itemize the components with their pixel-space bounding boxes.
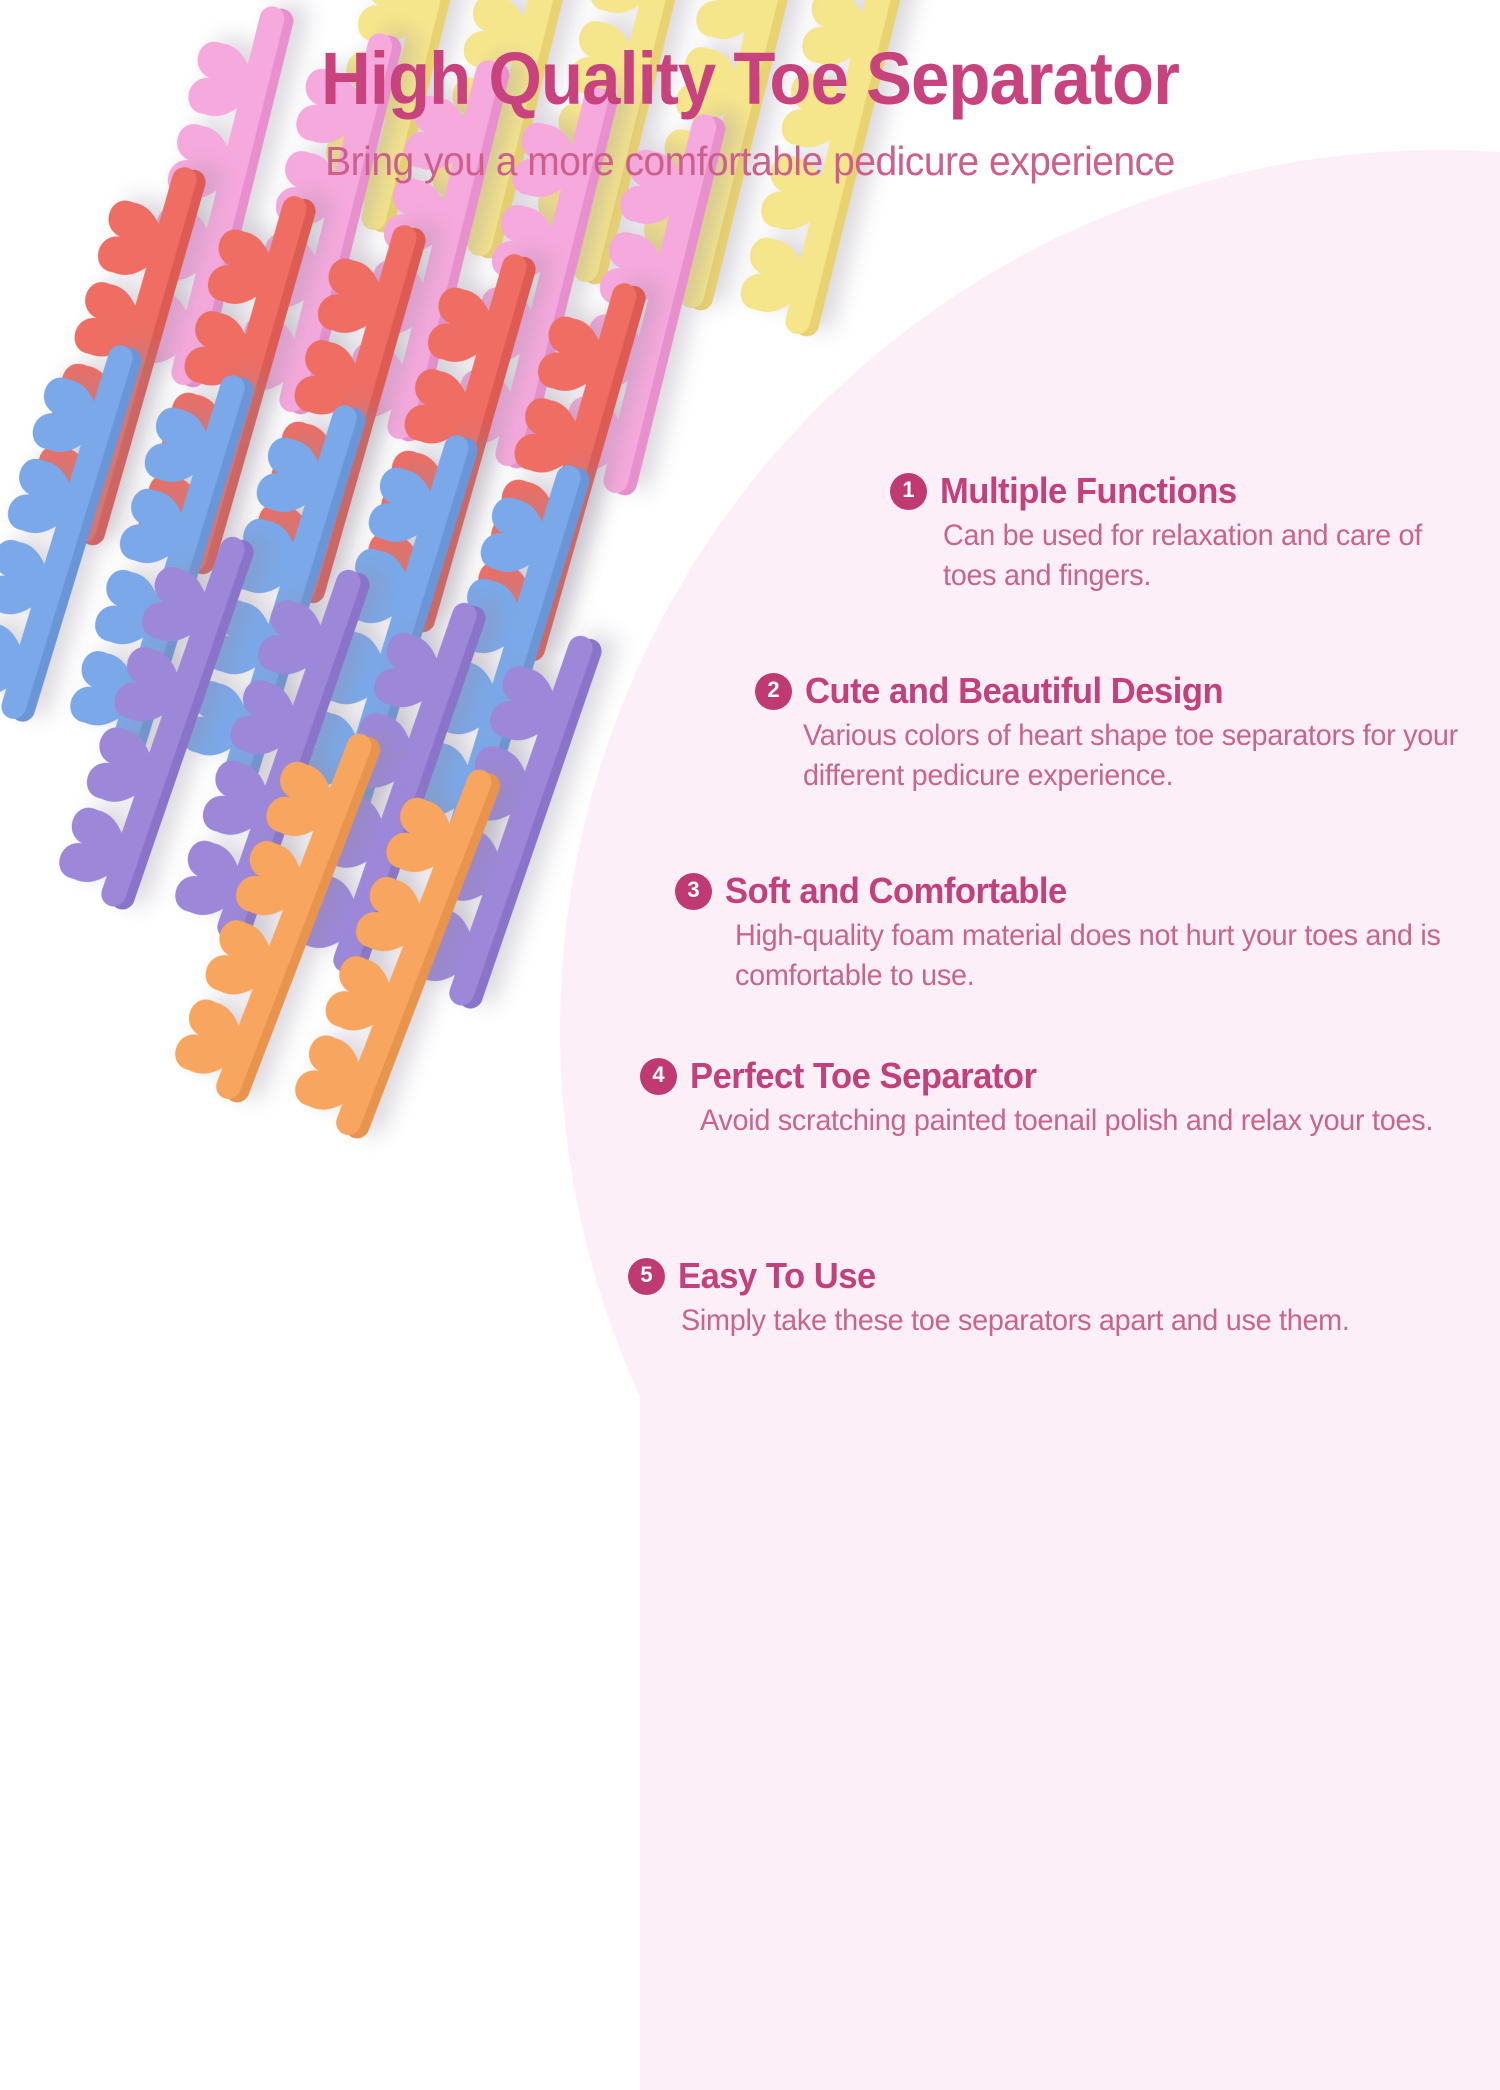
feature-item-5: 5 Easy To Use Simply take these toe sepa… [628,1255,1488,1341]
feature-item-4: 4 Perfect Toe Separator Avoid scratching… [640,1055,1485,1141]
feature-4-number-badge: 4 [640,1058,677,1095]
page-title: High Quality Toe Separator [53,0,1448,116]
feature-4-header: 4 Perfect Toe Separator [640,1055,1485,1097]
feature-2-body: Various colors of heart shape toe separa… [803,716,1475,796]
page-subtitle: Bring you a more comfortable pedicure ex… [38,116,1463,185]
feature-3-header: 3 Soft and Comfortable [675,870,1485,912]
feature-1-body: Can be used for relaxation and care of t… [943,516,1471,596]
feature-5-title: Easy To Use [678,1255,876,1297]
feature-2-header: 2 Cute and Beautiful Design [755,670,1495,712]
feature-item-2: 2 Cute and Beautiful Design Various colo… [755,670,1495,796]
feature-3-body: High-quality foam material does not hurt… [735,916,1445,996]
feature-4-title: Perfect Toe Separator [690,1055,1037,1097]
feature-5-number-badge: 5 [628,1258,665,1295]
feature-1-header: 1 Multiple Functions [890,470,1490,512]
feature-5-header: 5 Easy To Use [628,1255,1488,1297]
header: High Quality Toe Separator Bring you a m… [0,0,1500,185]
feature-1-number-badge: 1 [890,473,927,510]
feature-2-number-badge: 2 [755,673,792,710]
feature-item-3: 3 Soft and Comfortable High-quality foam… [675,870,1485,996]
feature-2-title: Cute and Beautiful Design [805,670,1223,712]
feature-3-number-badge: 3 [675,873,712,910]
feature-5-body: Simply take these toe separators apart a… [681,1301,1439,1341]
feature-1-title: Multiple Functions [940,470,1237,512]
feature-item-1: 1 Multiple Functions Can be used for rel… [890,470,1490,596]
feature-4-body: Avoid scratching painted toenail polish … [700,1101,1449,1141]
feature-3-title: Soft and Comfortable [725,870,1067,912]
